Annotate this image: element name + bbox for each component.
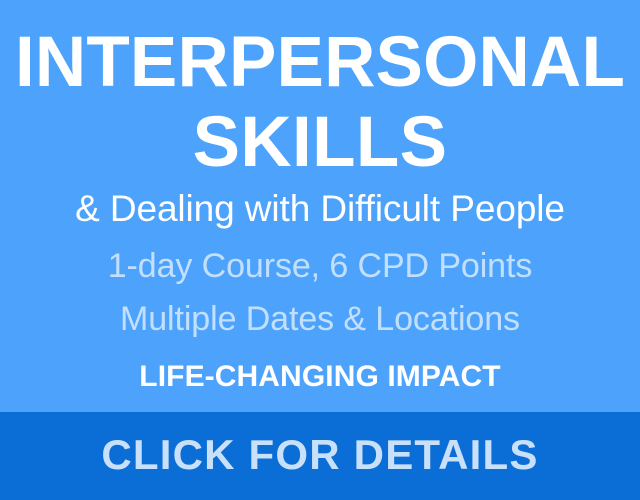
subheadline: & Dealing with Difficult People (0, 188, 640, 230)
detail-line-course-info: 1-day Course, 6 CPD Points (0, 246, 640, 286)
detail-line-dates-locations: Multiple Dates & Locations (0, 299, 640, 339)
banner-content-panel: INTERPERSONAL SKILLS & Dealing with Diff… (0, 0, 640, 412)
headline-line-1: INTERPERSONAL (0, 26, 640, 100)
impact-statement: LIFE-CHANGING IMPACT (0, 360, 640, 394)
advertisement-banner[interactable]: INTERPERSONAL SKILLS & Dealing with Diff… (0, 0, 640, 500)
headline-line-2: SKILLS (0, 106, 640, 180)
cta-button-label: CLICK FOR DETAILS (101, 432, 538, 478)
cta-button[interactable]: CLICK FOR DETAILS (0, 412, 640, 500)
